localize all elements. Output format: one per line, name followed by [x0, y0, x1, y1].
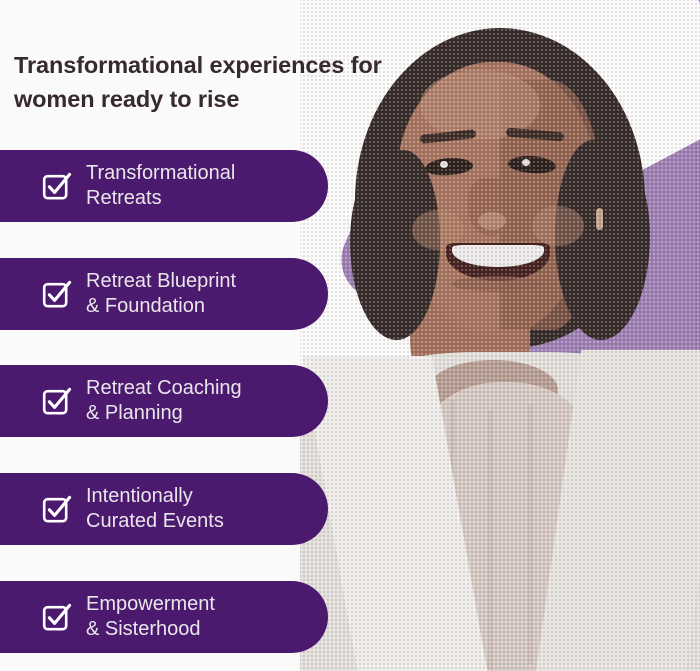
marketing-graphic: Transformational experiences for women r… [0, 0, 700, 671]
checkbox-checked-icon [42, 494, 72, 524]
earring-icon [596, 208, 603, 230]
checkbox-checked-icon [42, 602, 72, 632]
blouse-pleat [528, 404, 533, 664]
checkbox-checked-icon [42, 171, 72, 201]
cheek-right [532, 206, 584, 246]
feature-pill-label: Empowerment & Sisterhood [86, 592, 215, 642]
feature-pill-label: Transformational Retreats [86, 161, 235, 211]
feature-pill-label: Retreat Coaching & Planning [86, 376, 242, 426]
feature-pill-empowerment-sisterhood[interactable]: Empowerment & Sisterhood [0, 581, 328, 653]
feature-pill-label: Retreat Blueprint & Foundation [86, 269, 236, 319]
eye-highlight-right [522, 159, 530, 166]
blouse-pleat [488, 410, 493, 670]
checkbox-checked-icon [42, 279, 72, 309]
checkbox-checked-icon [42, 386, 72, 416]
feature-pill-intentionally-curated-events[interactable]: Intentionally Curated Events [0, 473, 328, 545]
eye-highlight-left [440, 161, 448, 168]
feature-pill-retreat-blueprint-foundation[interactable]: Retreat Blueprint & Foundation [0, 258, 328, 330]
lower-lip [452, 276, 542, 292]
nose-tip-highlight [478, 212, 506, 230]
page-title: Transformational experiences for women r… [14, 48, 424, 116]
feature-pill-transformational-retreats[interactable]: Transformational Retreats [0, 150, 328, 222]
feature-pill-label: Intentionally Curated Events [86, 484, 224, 534]
feature-pill-retreat-coaching-planning[interactable]: Retreat Coaching & Planning [0, 365, 328, 437]
